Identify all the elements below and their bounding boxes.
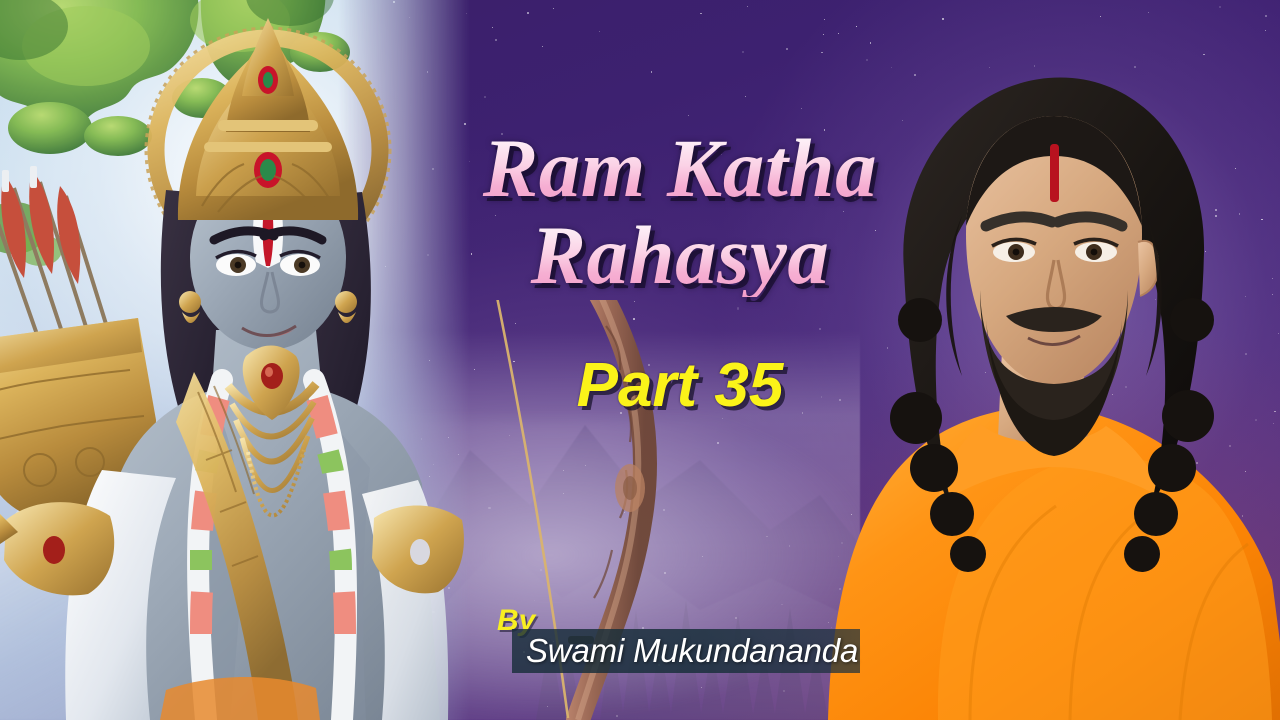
part-label: Part 35 xyxy=(577,355,784,417)
ram-armband-left xyxy=(0,502,114,595)
swami-tilak xyxy=(1050,144,1059,202)
lord-ram-illustration xyxy=(0,0,470,720)
video-thumbnail: Ram Katha Rahasya Part 35 By Swami Mukun… xyxy=(0,0,1280,720)
presenter-name: Swami Mukundananda xyxy=(526,631,858,671)
presenter-name-bar: Swami Mukundananda xyxy=(512,629,860,673)
part-block: Part 35 xyxy=(430,355,930,417)
lord-ram-figure xyxy=(0,0,470,720)
